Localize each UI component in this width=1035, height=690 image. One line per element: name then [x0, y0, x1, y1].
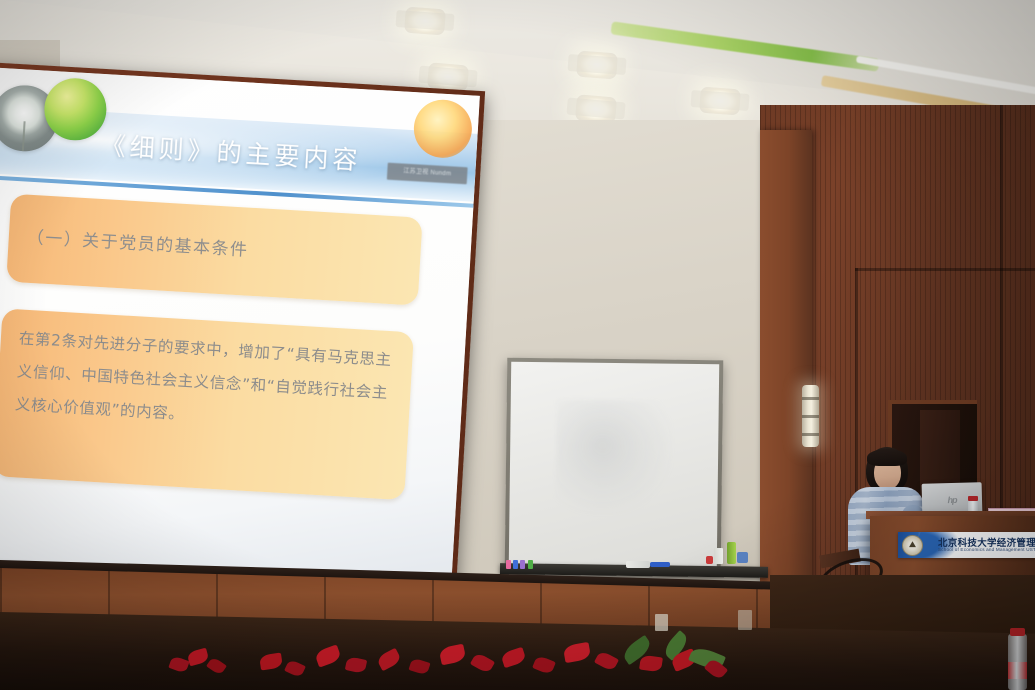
- slide-bullet-text-1: （一）关于党员的基本条件: [25, 208, 404, 290]
- flower-petal: [206, 656, 227, 676]
- flower-petal: [500, 647, 527, 668]
- wall-sconce-light: [802, 385, 819, 447]
- flower-petal: [314, 644, 342, 667]
- box-blue-icon[interactable]: [737, 552, 748, 563]
- poinsettia-flowers: [110, 636, 730, 690]
- marker-blue-icon[interactable]: [513, 560, 518, 569]
- cup-white-icon[interactable]: [714, 548, 723, 564]
- flower-petal: [284, 659, 306, 678]
- flower-petal: [187, 648, 210, 667]
- whiteboard: [505, 358, 724, 573]
- flower-petal: [345, 656, 367, 674]
- screen-frame: 《细则》的主要内容 江苏卫视 Nundm （一）关于党员的基本条件 在第2条对先…: [0, 62, 485, 615]
- ceiling-downlight: [699, 87, 741, 116]
- slide-bullet-text-2: 在第2条对先进分子的要求中，增加了“具有马克思主义信仰、中国特色社会主义信念”和…: [14, 322, 395, 443]
- wall-outlet-icon[interactable]: [738, 610, 752, 630]
- wood-column: [760, 130, 812, 585]
- flower-petal: [470, 652, 495, 675]
- presentation-slide: 《细则》的主要内容 江苏卫视 Nundm （一）关于党员的基本条件 在第2条对先…: [0, 67, 480, 610]
- flower-petal: [376, 648, 402, 672]
- panel-seam: [855, 268, 1035, 271]
- marker-green-icon[interactable]: [528, 560, 533, 569]
- podium-banner: ⛰ 北京科技大学经济管理学院 School of Economics and M…: [898, 532, 1035, 558]
- banner-english-text: School of Economics and Management USTB: [938, 547, 1035, 552]
- flower-petal: [563, 642, 592, 663]
- flower-petal: [408, 657, 430, 675]
- marker-blue-2-icon[interactable]: [650, 562, 670, 567]
- flower-petal: [439, 644, 467, 666]
- marker-red-icon[interactable]: [706, 556, 713, 564]
- marker-violet-icon[interactable]: [520, 560, 525, 569]
- whiteboard-surface: [509, 362, 719, 569]
- slide-bullet-box-1: （一）关于党员的基本条件: [6, 194, 422, 306]
- flower-petal: [259, 653, 283, 671]
- eraser-white-icon[interactable]: [626, 561, 650, 568]
- flower-petal: [532, 655, 556, 675]
- flower-petal: [639, 655, 663, 673]
- floor-water-bottle[interactable]: [1008, 634, 1027, 690]
- flower-petal: [594, 650, 619, 672]
- lecture-hall-photo: 《细则》的主要内容 江苏卫视 Nundm （一）关于党员的基本条件 在第2条对先…: [0, 0, 1035, 690]
- screen-surface: 《细则》的主要内容 江苏卫视 Nundm （一）关于党员的基本条件 在第2条对先…: [0, 67, 480, 610]
- slide-bullet-box-2: 在第2条对先进分子的要求中，增加了“具有马克思主义信仰、中国特色社会主义信念”和…: [0, 308, 414, 500]
- ceiling-downlight: [404, 7, 446, 36]
- bottle-green-icon[interactable]: [727, 542, 736, 564]
- ceiling-downlight: [576, 51, 618, 80]
- university-seal-icon: ⛰: [902, 535, 923, 556]
- speaker-hair-front: [867, 449, 907, 466]
- hp-logo-icon: hp: [947, 495, 956, 505]
- seal-mark: ⛰: [909, 540, 916, 550]
- marker-pink-icon[interactable]: [506, 560, 511, 569]
- wall-outlet-icon[interactable]: [655, 614, 668, 631]
- projection-screen: 《细则》的主要内容 江苏卫视 Nundm （一）关于党员的基本条件 在第2条对先…: [0, 62, 485, 615]
- whiteboard-smudge: [555, 399, 673, 515]
- flower-petal: [168, 655, 189, 673]
